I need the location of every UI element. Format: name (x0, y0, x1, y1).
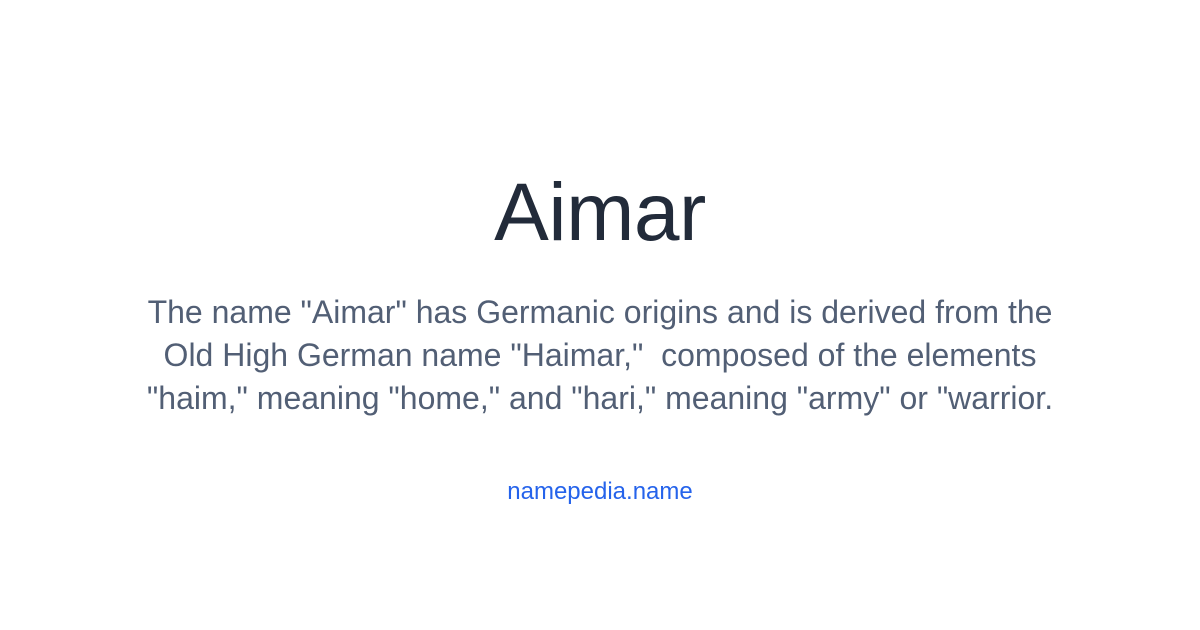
footer: namepedia.name (507, 478, 692, 506)
page-title: Aimar (494, 172, 706, 254)
site-link[interactable]: namepedia.name (507, 478, 692, 505)
name-description-text: The name "Aimar" has Germanic origins an… (145, 291, 1055, 420)
name-meaning-card: Aimar The name "Aimar" has Germanic orig… (0, 0, 1200, 630)
